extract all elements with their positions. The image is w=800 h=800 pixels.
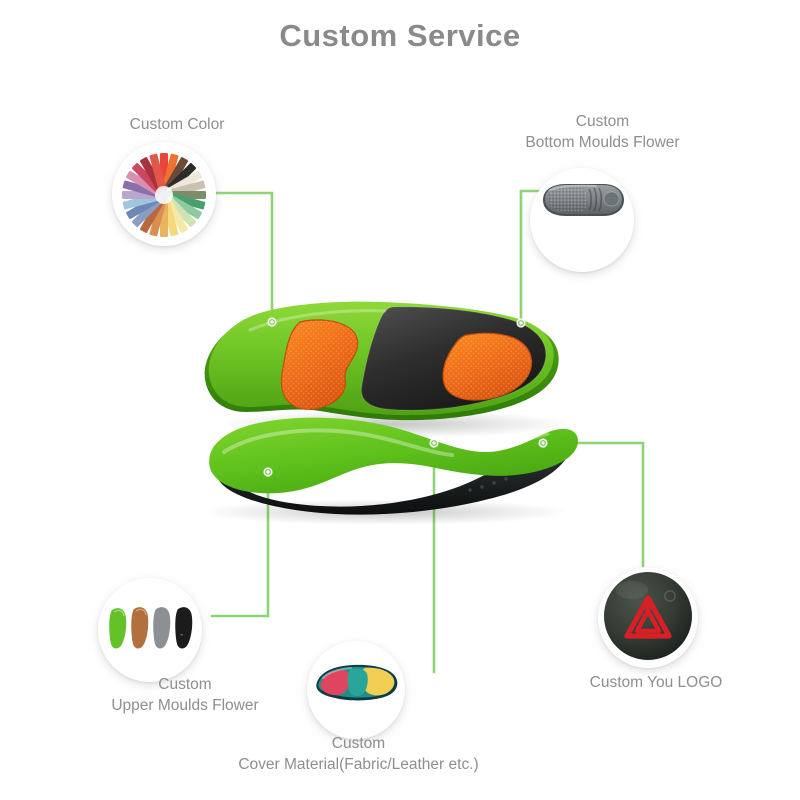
thumbnail-upper-moulds[interactable]: ≡ [98, 578, 202, 682]
label-line: Custom [196, 733, 521, 754]
label-line: Custom Color [42, 114, 312, 135]
label-line: Custom [495, 111, 710, 132]
thumbnail-custom-color[interactable] [112, 142, 216, 246]
label-custom-bottom-moulds: Custom Bottom Moulds Flower [495, 111, 710, 153]
label-line: Bottom Moulds Flower [495, 132, 710, 153]
logo-ball-icon [598, 568, 698, 668]
thumbnail-cover-material[interactable] [307, 641, 405, 739]
label-custom-color: Custom Color [42, 114, 312, 135]
label-line: Custom You LOGO [556, 672, 756, 693]
label-custom-logo: Custom You LOGO [556, 672, 756, 693]
label-line: Upper Moulds Flower [75, 695, 295, 716]
label-line: Custom [75, 674, 295, 695]
infographic-canvas: Custom Service [0, 0, 800, 800]
thumbnail-custom-logo[interactable] [598, 568, 698, 668]
label-line: Cover Material(Fabric/Leather etc.) [196, 754, 521, 775]
svg-text:≡: ≡ [180, 632, 183, 637]
insole-top-view [205, 302, 559, 421]
thumbnail-bottom-moulds[interactable] [530, 168, 634, 272]
label-custom-cover-material: Custom Cover Material(Fabric/Leather etc… [196, 733, 521, 775]
color-wheel-swatches-icon [112, 142, 216, 246]
connector-custom-color [214, 193, 272, 322]
insole-upper-moulds-icon: ≡ [98, 578, 202, 682]
label-custom-upper-moulds: Custom Upper Moulds Flower [75, 674, 295, 716]
insole-bottom-mould-icon [530, 168, 634, 272]
cover-material-swatches-icon [307, 641, 405, 739]
